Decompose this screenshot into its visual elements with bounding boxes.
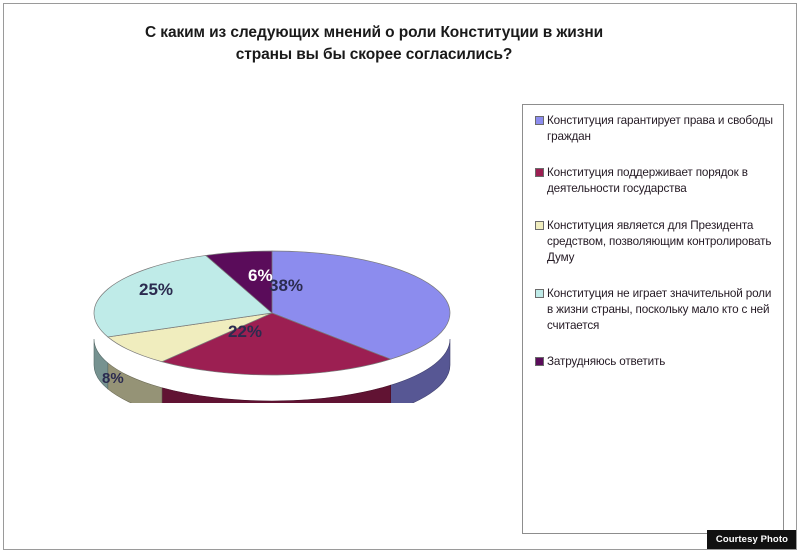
legend-label-1: Конституция поддерживает порядок в деяте… — [547, 165, 777, 197]
legend-item-3: Конституция не играет значительной роли … — [535, 286, 777, 334]
legend-swatch-icon-3 — [535, 289, 544, 298]
watermark-badge: Courtesy Photo — [707, 530, 796, 549]
legend-label-2: Конституция является для Президента сред… — [547, 218, 777, 266]
legend-swatch-icon-1 — [535, 168, 544, 177]
legend-swatch-icon-0 — [535, 116, 544, 125]
legend-item-2: Конституция является для Президента сред… — [535, 218, 777, 266]
page-title: С каким из следующих мнений о роли Конст… — [44, 22, 704, 67]
legend-label-4: Затрудняюсь ответить — [547, 354, 665, 370]
pie-chart — [74, 239, 474, 424]
legend-swatch-icon-4 — [535, 357, 544, 366]
chart-title-line-2: страны вы бы скорее согласились? — [236, 46, 513, 63]
pie-label-3: 25% — [139, 280, 173, 300]
legend-item-0: Конституция гарантирует права и свободы … — [535, 113, 777, 145]
chart-title-line-1: С каким из следующих мнений о роли Конст… — [145, 24, 603, 41]
pie-label-0: 38% — [269, 276, 303, 296]
pie-label-1: 22% — [228, 322, 262, 342]
pie-label-4: 6% — [248, 266, 273, 286]
chart-canvas: С каким из следующих мнений о роли Конст… — [3, 3, 797, 550]
legend-label-3: Конституция не играет значительной роли … — [547, 286, 777, 334]
legend-item-1: Конституция поддерживает порядок в деяте… — [535, 165, 777, 197]
legend-label-0: Конституция гарантирует права и свободы … — [547, 113, 777, 145]
legend-swatch-icon-2 — [535, 221, 544, 230]
chart-legend: Конституция гарантирует права и свободы … — [522, 104, 784, 534]
pie-label-2: 8% — [102, 370, 124, 387]
legend-item-4: Затрудняюсь ответить — [535, 354, 777, 370]
